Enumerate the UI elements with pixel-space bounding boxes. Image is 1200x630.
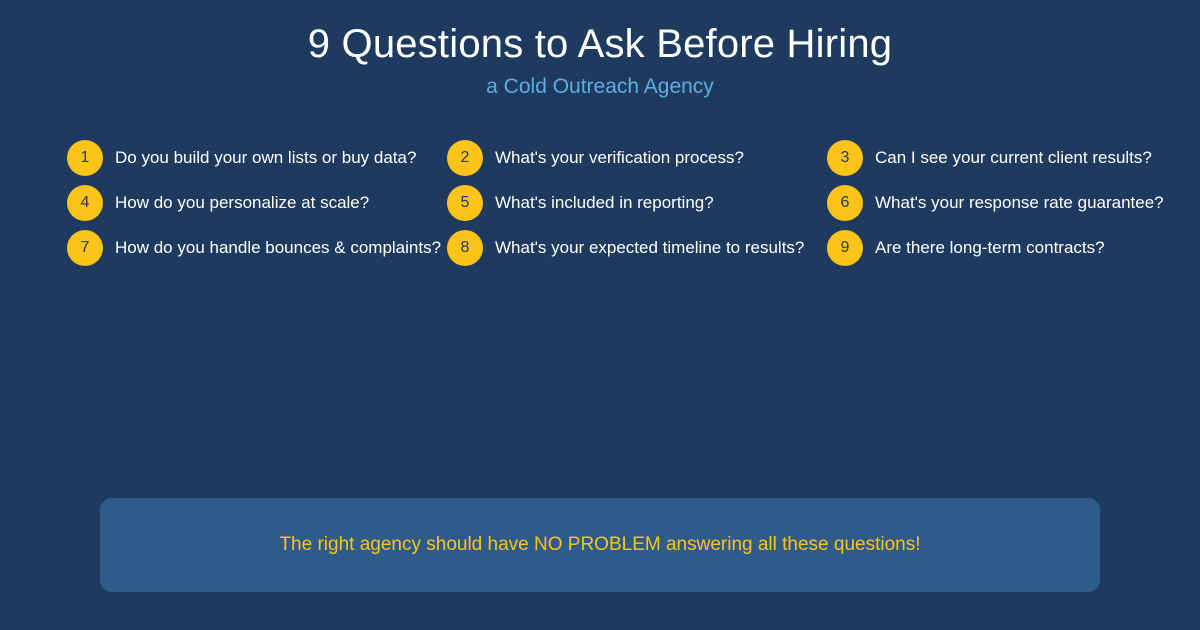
question-number-badge: 2 [447, 140, 483, 176]
question-item-9: 9 Are there long-term contracts? [827, 226, 1105, 270]
question-number-badge: 5 [447, 185, 483, 221]
questions-grid: 1 Do you build your own lists or buy dat… [0, 136, 1200, 276]
question-number-badge: 7 [67, 230, 103, 266]
question-label: Do you build your own lists or buy data? [115, 147, 416, 169]
question-number-badge: 1 [67, 140, 103, 176]
question-label: What's your verification process? [495, 147, 744, 169]
question-label: How do you personalize at scale? [115, 192, 369, 214]
footer-callout-banner: The right agency should have NO PROBLEM … [100, 498, 1100, 592]
question-label: What's your expected timeline to results… [495, 237, 804, 259]
question-item-1: 1 Do you build your own lists or buy dat… [67, 136, 416, 180]
slide-canvas: 9 Questions to Ask Before Hiring a Cold … [0, 0, 1200, 630]
question-number-badge: 6 [827, 185, 863, 221]
question-item-3: 3 Can I see your current client results? [827, 136, 1152, 180]
footer-callout-text: The right agency should have NO PROBLEM … [279, 532, 920, 558]
question-number-badge: 4 [67, 185, 103, 221]
question-number-badge: 3 [827, 140, 863, 176]
question-item-8: 8 What's your expected timeline to resul… [447, 226, 804, 270]
page-subtitle: a Cold Outreach Agency [0, 72, 1200, 102]
page-title: 9 Questions to Ask Before Hiring [0, 18, 1200, 70]
question-number-badge: 8 [447, 230, 483, 266]
question-item-7: 7 How do you handle bounces & complaints… [67, 226, 441, 270]
question-label: What's your response rate guarantee? [875, 192, 1164, 214]
header: 9 Questions to Ask Before Hiring a Cold … [0, 18, 1200, 102]
question-number-badge: 9 [827, 230, 863, 266]
question-item-4: 4 How do you personalize at scale? [67, 181, 369, 225]
question-label: What's included in reporting? [495, 192, 714, 214]
question-item-6: 6 What's your response rate guarantee? [827, 181, 1164, 225]
question-label: How do you handle bounces & complaints? [115, 237, 441, 259]
question-label: Can I see your current client results? [875, 147, 1152, 169]
question-item-5: 5 What's included in reporting? [447, 181, 714, 225]
question-item-2: 2 What's your verification process? [447, 136, 744, 180]
question-label: Are there long-term contracts? [875, 237, 1105, 259]
